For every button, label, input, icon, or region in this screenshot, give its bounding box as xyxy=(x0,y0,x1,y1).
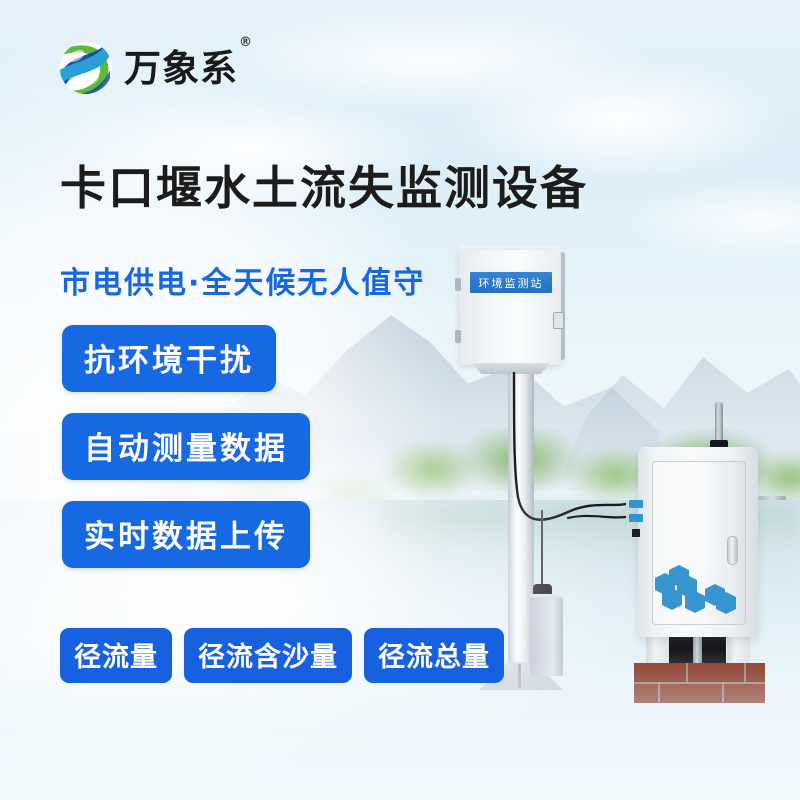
cabinet-connector-icon xyxy=(629,514,643,522)
station-label: 环境监测站 xyxy=(470,272,552,293)
cabinet-connector-icon xyxy=(629,500,643,508)
sensor-box-icon xyxy=(530,598,563,676)
feature-badge: 实时数据上传 xyxy=(62,501,310,568)
brick-mortar-seam xyxy=(744,663,746,683)
cabinet-side-arm-icon xyxy=(758,496,786,500)
environment-station-box xyxy=(459,250,561,365)
feature-badge: 自动测量数据 xyxy=(62,413,310,480)
brick-base-icon xyxy=(634,663,765,703)
brick-mortar-seam xyxy=(686,663,688,683)
measurement-tag: 径流含沙量 xyxy=(184,628,352,683)
station-hinge-icon xyxy=(455,278,461,291)
brand-logo: 万象系® xyxy=(58,40,252,96)
sensor-antenna-icon xyxy=(541,510,543,588)
brand-name-text: 万象系 xyxy=(124,47,238,90)
cabinet-port-icon xyxy=(632,529,640,537)
poster-root: 环境监测站 xyxy=(0,0,800,800)
hexagon-cluster-icon xyxy=(655,565,747,617)
antenna-icon xyxy=(715,402,723,444)
brand-name: 万象系® xyxy=(124,50,252,87)
registered-mark: ® xyxy=(239,35,253,50)
cable-icon xyxy=(506,372,626,582)
brick-mortar-seam xyxy=(722,683,724,703)
station-hinge-icon xyxy=(455,330,461,343)
measurement-tag: 径流量 xyxy=(60,628,172,683)
page-title: 卡口堰水土流失监测设备 xyxy=(60,152,588,218)
cabinet-handle-icon xyxy=(727,536,738,565)
brick-mortar-seam xyxy=(658,683,660,703)
measurement-tag-list: 径流量 径流含沙量 径流总量 xyxy=(60,628,504,683)
measurement-tag: 径流总量 xyxy=(364,628,504,683)
page-subtitle: 市电供电·全天候无人值守 xyxy=(60,258,425,302)
pole-base-rib xyxy=(518,664,521,688)
station-latch-icon xyxy=(553,312,564,329)
feature-badge: 抗环境干扰 xyxy=(62,325,276,392)
globe-swirl-icon xyxy=(58,40,114,96)
brick-row xyxy=(634,683,765,703)
